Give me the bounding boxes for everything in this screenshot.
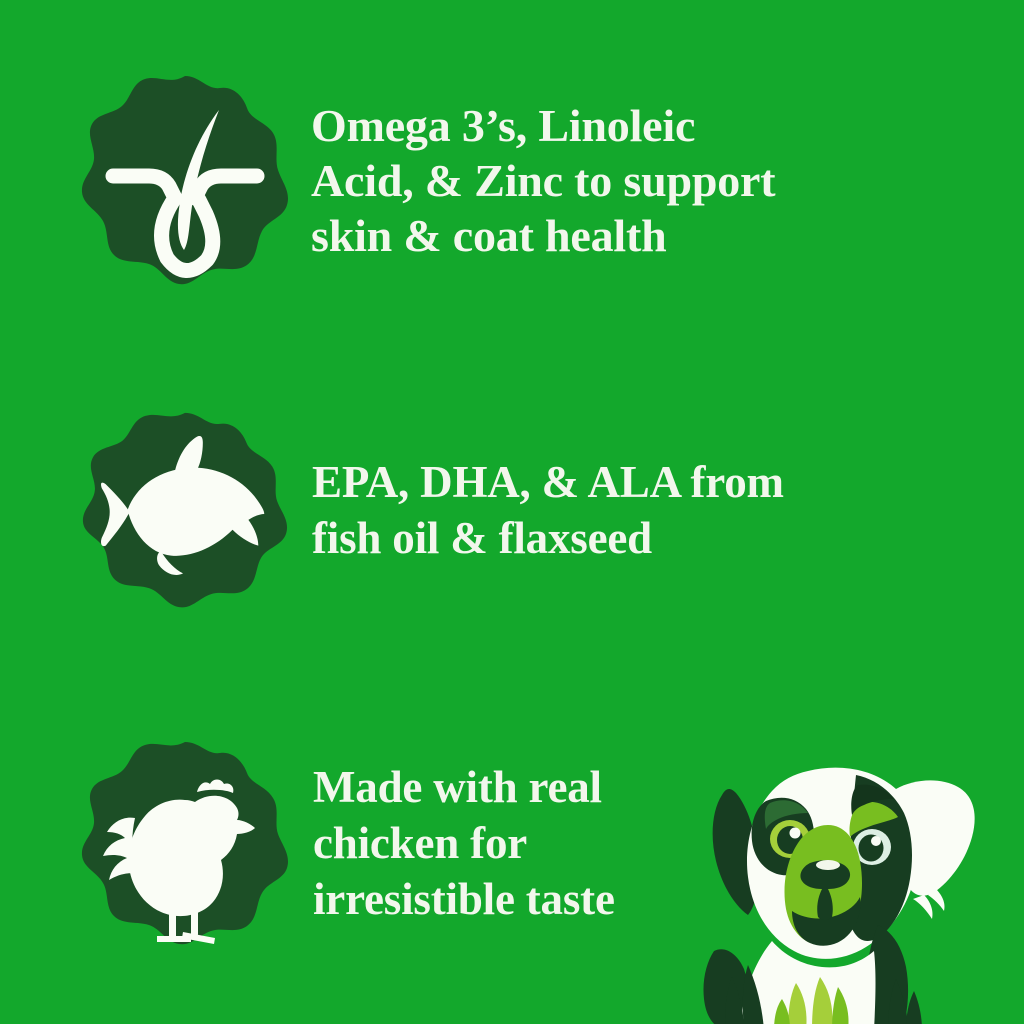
hair-follicle-icon <box>79 74 291 286</box>
benefit-text: Made with real chicken for irresistible … <box>313 759 733 927</box>
benefit-row: EPA, DHA, & ALA from fish oil & flaxseed <box>0 405 1024 615</box>
benefit-row: Made with real chicken for irresistible … <box>0 735 1024 950</box>
benefit-row: Omega 3’s, Linoleic Acid, & Zinc to supp… <box>0 60 1024 300</box>
fish-icon <box>80 410 290 610</box>
chicken-icon <box>79 740 291 946</box>
product-benefits-panel: Omega 3’s, Linoleic Acid, & Zinc to supp… <box>0 0 1024 1024</box>
benefit-text: EPA, DHA, & ALA from fish oil & flaxseed <box>312 454 1024 566</box>
benefit-text: Omega 3’s, Linoleic Acid, & Zinc to supp… <box>311 98 1024 263</box>
